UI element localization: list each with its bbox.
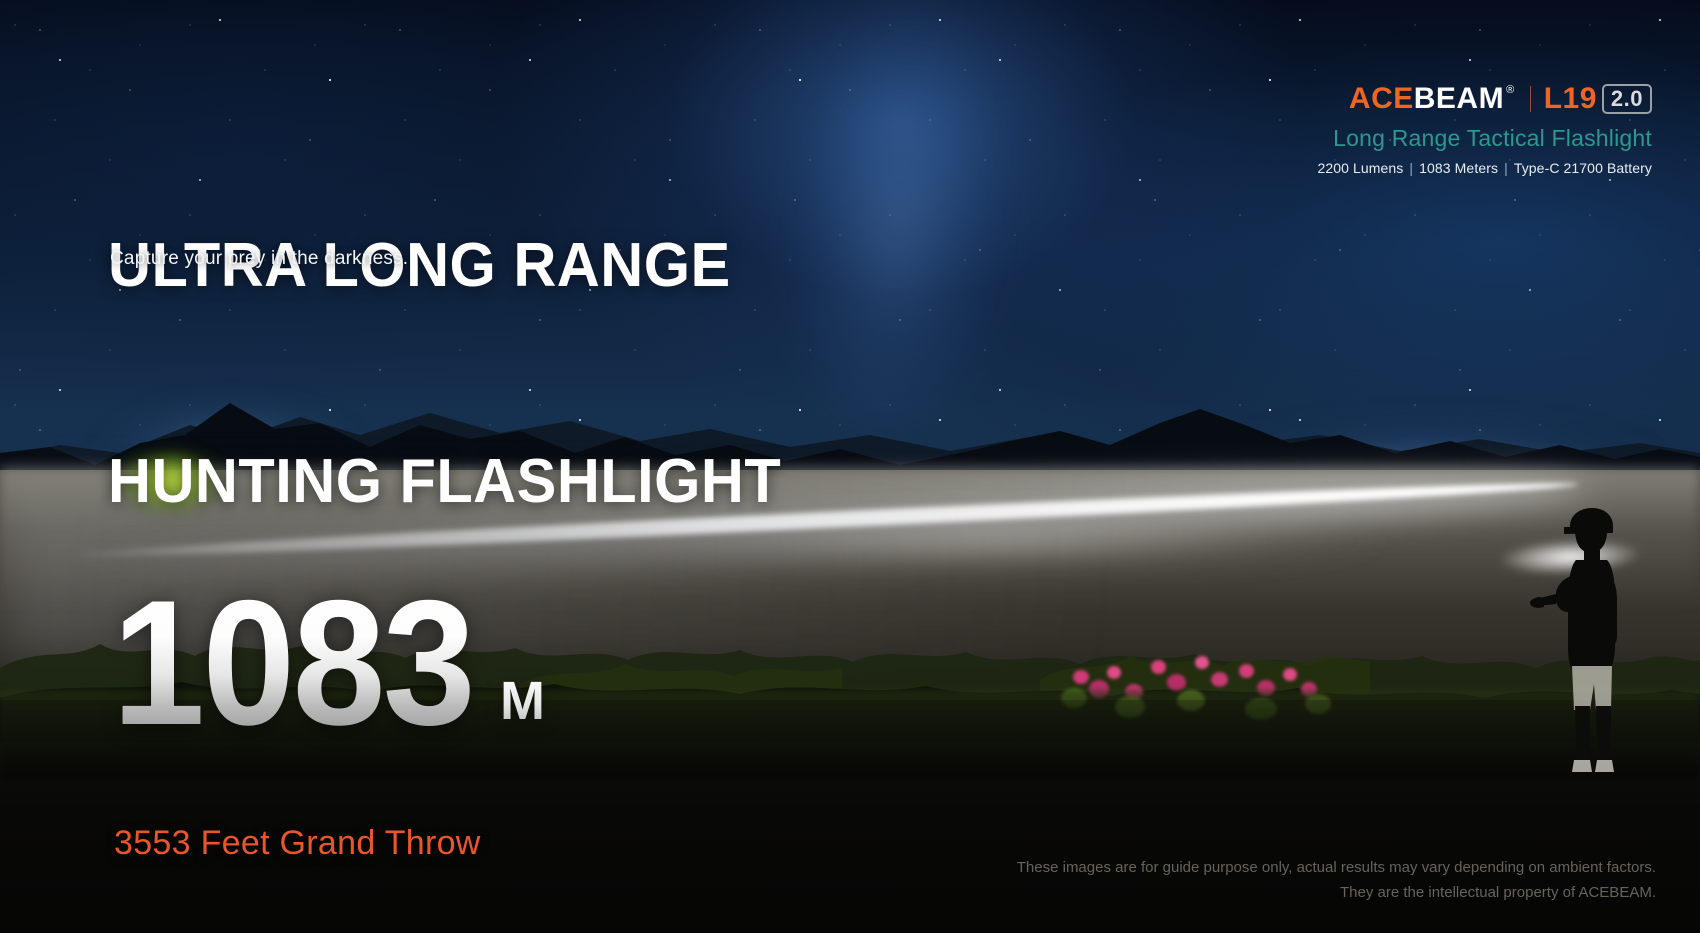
- brand-block: ACEBEAM® L192.0 Long Range Tactical Flas…: [1232, 82, 1652, 176]
- brand-tagline: Long Range Tactical Flashlight: [1232, 125, 1652, 152]
- spec-separator-2: |: [1504, 160, 1508, 176]
- brand-specs: 2200 Lumens|1083 Meters|Type-C 21700 Bat…: [1232, 160, 1652, 176]
- brand-logo-row: ACEBEAM® L192.0: [1232, 82, 1652, 116]
- headline-subtitle: Capture your prey in the darkness.: [110, 248, 408, 270]
- hero-stat-unit: M: [500, 674, 545, 728]
- headline-line-2: HUNTING FLASHLIGHT: [108, 446, 781, 518]
- model-version-badge: 2.0: [1602, 84, 1652, 114]
- registered-trademark-icon: ®: [1506, 85, 1515, 96]
- disclaimer-line-2: They are the intellectual property of AC…: [1017, 880, 1656, 905]
- spec-separator-1: |: [1409, 160, 1413, 176]
- hero-stat-caption: 3553 Feet Grand Throw: [114, 824, 481, 863]
- product-banner: ULTRA LONG RANGE HUNTING FLASHLIGHT Capt…: [0, 0, 1700, 933]
- hero-stat: 1083 M: [112, 588, 545, 738]
- acebeam-logo: ACEBEAM®: [1349, 84, 1515, 114]
- model-name-group: L192.0: [1544, 84, 1652, 114]
- spec-battery: Type-C 21700 Battery: [1514, 160, 1652, 176]
- hero-stat-value: 1083: [112, 588, 473, 738]
- brand-divider: [1530, 86, 1531, 112]
- person-silhouette: [1512, 498, 1682, 798]
- disclaimer: These images are for guide purpose only,…: [1017, 855, 1656, 905]
- logo-ace-text: ACE: [1349, 84, 1414, 114]
- logo-beam-text: BEAM: [1414, 84, 1504, 114]
- model-name: L19: [1544, 82, 1597, 115]
- spec-lumens: 2200 Lumens: [1317, 160, 1403, 176]
- disclaimer-line-1: These images are for guide purpose only,…: [1017, 855, 1656, 880]
- spec-distance: 1083 Meters: [1419, 160, 1498, 176]
